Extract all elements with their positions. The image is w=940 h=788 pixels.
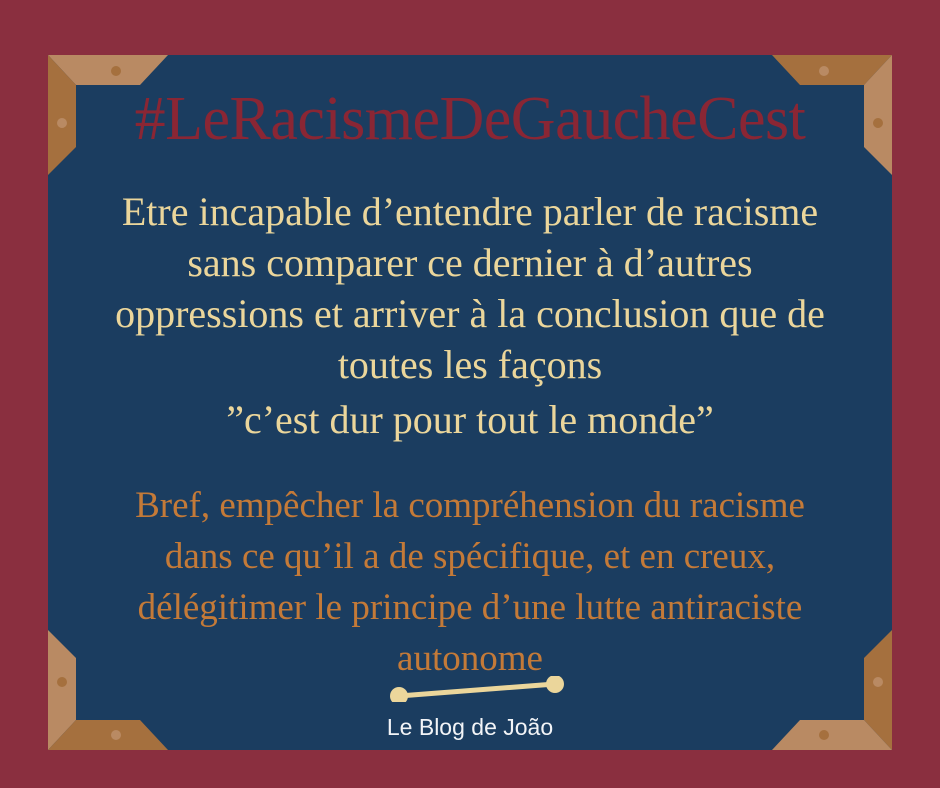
quote-primary-line: sans comparer ce dernier à d’autres (52, 237, 888, 288)
quote-primary-line: Etre incapable d’entendre parler de raci… (52, 186, 888, 237)
quote-primary: Etre incapable d’entendre parler de raci… (52, 186, 888, 445)
hashtag-title: #LeRacismeDeGaucheCest (0, 84, 940, 154)
quote-primary-line: oppressions et arriver à la conclusion q… (52, 288, 888, 339)
quote-secondary-line: dans ce qu’il a de spécifique, et en cre… (52, 531, 888, 582)
quote-secondary-line: Bref, empêcher la compréhension du racis… (52, 480, 888, 531)
divider-dot-right-icon (546, 676, 564, 693)
quote-secondary: Bref, empêcher la compréhension du racis… (52, 480, 888, 684)
quote-secondary-line: délégitimer le principe d’une lutte anti… (52, 582, 888, 633)
divider-line-icon (399, 684, 555, 696)
corner-dot-icon (111, 66, 121, 76)
divider-dot-left-icon (390, 687, 408, 702)
blog-signature: Le Blog de João (0, 712, 940, 742)
corner-dot-icon (819, 66, 829, 76)
quote-primary-line: toutes les façons (52, 339, 888, 390)
dotted-line-divider-icon (388, 676, 566, 702)
quote-primary-line: ”c’est dur pour tout le monde” (52, 394, 888, 445)
quote-card: #LeRacismeDeGaucheCest Etre incapable d’… (0, 0, 940, 788)
